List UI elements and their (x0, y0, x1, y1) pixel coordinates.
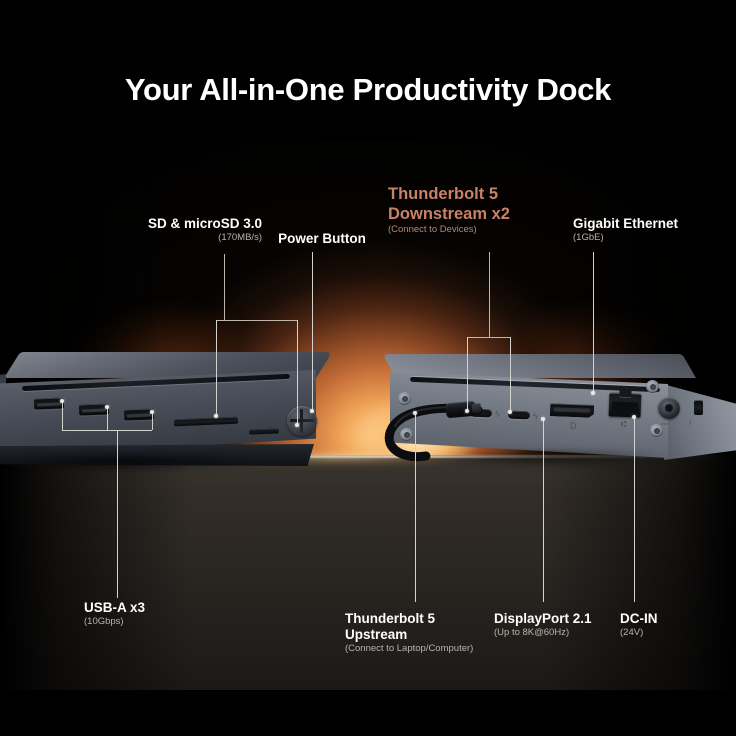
callout-usba-title: USB-A x3 (84, 600, 284, 616)
leader-usba-bar (62, 430, 152, 431)
dock-front-unit (0, 352, 334, 474)
callout-displayport: DisplayPort 2.1 (Up to 8K@60Hz) (494, 611, 634, 639)
leader-sd-dot-sd (214, 414, 218, 418)
callout-tbdown-title-line2: Downstream x2 (388, 204, 588, 224)
leader-usba-drop (117, 430, 118, 598)
leader-sd-dot-microsd (295, 423, 299, 427)
upstream-cable-plug (445, 401, 476, 419)
leader-tbup-dot (413, 411, 417, 415)
callout-ethernet-sub: (1GbE) (573, 232, 733, 244)
page-title: Your All-in-One Productivity Dock (0, 72, 736, 108)
callout-dcin: DC-IN (24V) (620, 611, 730, 639)
leader-ethernet-dot (591, 391, 595, 395)
callout-power: Power Button (262, 231, 382, 247)
leader-tbup-line (415, 414, 416, 602)
thunderbolt-glyph-2: ϟ (533, 412, 538, 421)
callout-ethernet-title: Gigabit Ethernet (573, 216, 733, 232)
leader-tbdown-dot-1 (465, 409, 469, 413)
callout-thunderbolt-downstream: Thunderbolt 5 Downstream x2 (Connect to … (388, 184, 588, 236)
leader-power-line (312, 252, 313, 412)
callout-sd: SD & microSD 3.0 (170MB/s) (0, 216, 262, 244)
displayport-port (550, 403, 594, 418)
leader-usba-stem-3 (152, 413, 153, 430)
callout-power-title: Power Button (262, 231, 382, 247)
callout-tbup-sub: (Connect to Laptop/Computer) (345, 643, 565, 655)
kensington-glyph: ı (689, 418, 692, 427)
callout-sd-sub: (170MB/s) (0, 232, 262, 244)
callout-ethernet: Gigabit Ethernet (1GbE) (573, 216, 733, 244)
leader-usba-stem-2 (107, 408, 108, 430)
leader-usba-dot-1 (60, 399, 64, 403)
leader-ethernet-line (593, 252, 594, 394)
leader-sd-drop (224, 254, 225, 320)
ethernet-glyph: ⑆ (621, 420, 626, 429)
leader-tbdown-stem-1 (467, 337, 468, 412)
displayport-glyph: D (570, 422, 577, 431)
callout-displayport-sub: (Up to 8K@60Hz) (494, 627, 634, 639)
leader-usba-dot-3 (150, 410, 154, 414)
dock-front-shadow (0, 456, 312, 482)
callout-dcin-sub: (24V) (620, 627, 730, 639)
callout-sd-title: SD & microSD 3.0 (0, 216, 262, 232)
bottom-letterbox (0, 690, 736, 736)
product-infographic: Your All-in-One Productivity Dock ϟ ϟ D (0, 0, 736, 736)
leader-dcin-line (634, 418, 635, 602)
callout-tbdown-sub: (Connect to Devices) (388, 224, 588, 236)
leader-tbdown-drop (489, 252, 490, 337)
leader-tbdown-dot-2 (508, 410, 512, 414)
callout-dcin-title: DC-IN (620, 611, 730, 627)
leader-tbdown-stem-2 (510, 337, 511, 413)
leader-power-dot (310, 409, 314, 413)
callout-usba: USB-A x3 (10Gbps) (84, 600, 284, 628)
ethernet-port (609, 392, 642, 417)
thunderbolt-glyph-1: ϟ (495, 410, 500, 419)
leader-tbdown-bar (467, 337, 511, 338)
leader-sd-stem-microsd (297, 320, 298, 426)
chassis-screw-top-right (646, 380, 659, 393)
leader-displayport-line (543, 420, 544, 602)
callout-usba-sub: (10Gbps) (84, 616, 284, 628)
callout-tbdown-title-line1: Thunderbolt 5 (388, 184, 588, 204)
leader-displayport-dot (541, 417, 545, 421)
top-letterbox (0, 0, 736, 142)
callout-displayport-title: DisplayPort 2.1 (494, 611, 634, 627)
leader-sd-stem-sd (216, 320, 217, 417)
leader-usba-dot-2 (105, 405, 109, 409)
leader-sd-bar (216, 320, 298, 321)
dc-in-jack (658, 397, 680, 419)
leader-usba-stem-1 (62, 402, 63, 430)
dc-in-glyph: ⎓ (661, 420, 668, 429)
kensington-lock-slot (694, 400, 703, 415)
leader-dcin-dot (632, 415, 636, 419)
